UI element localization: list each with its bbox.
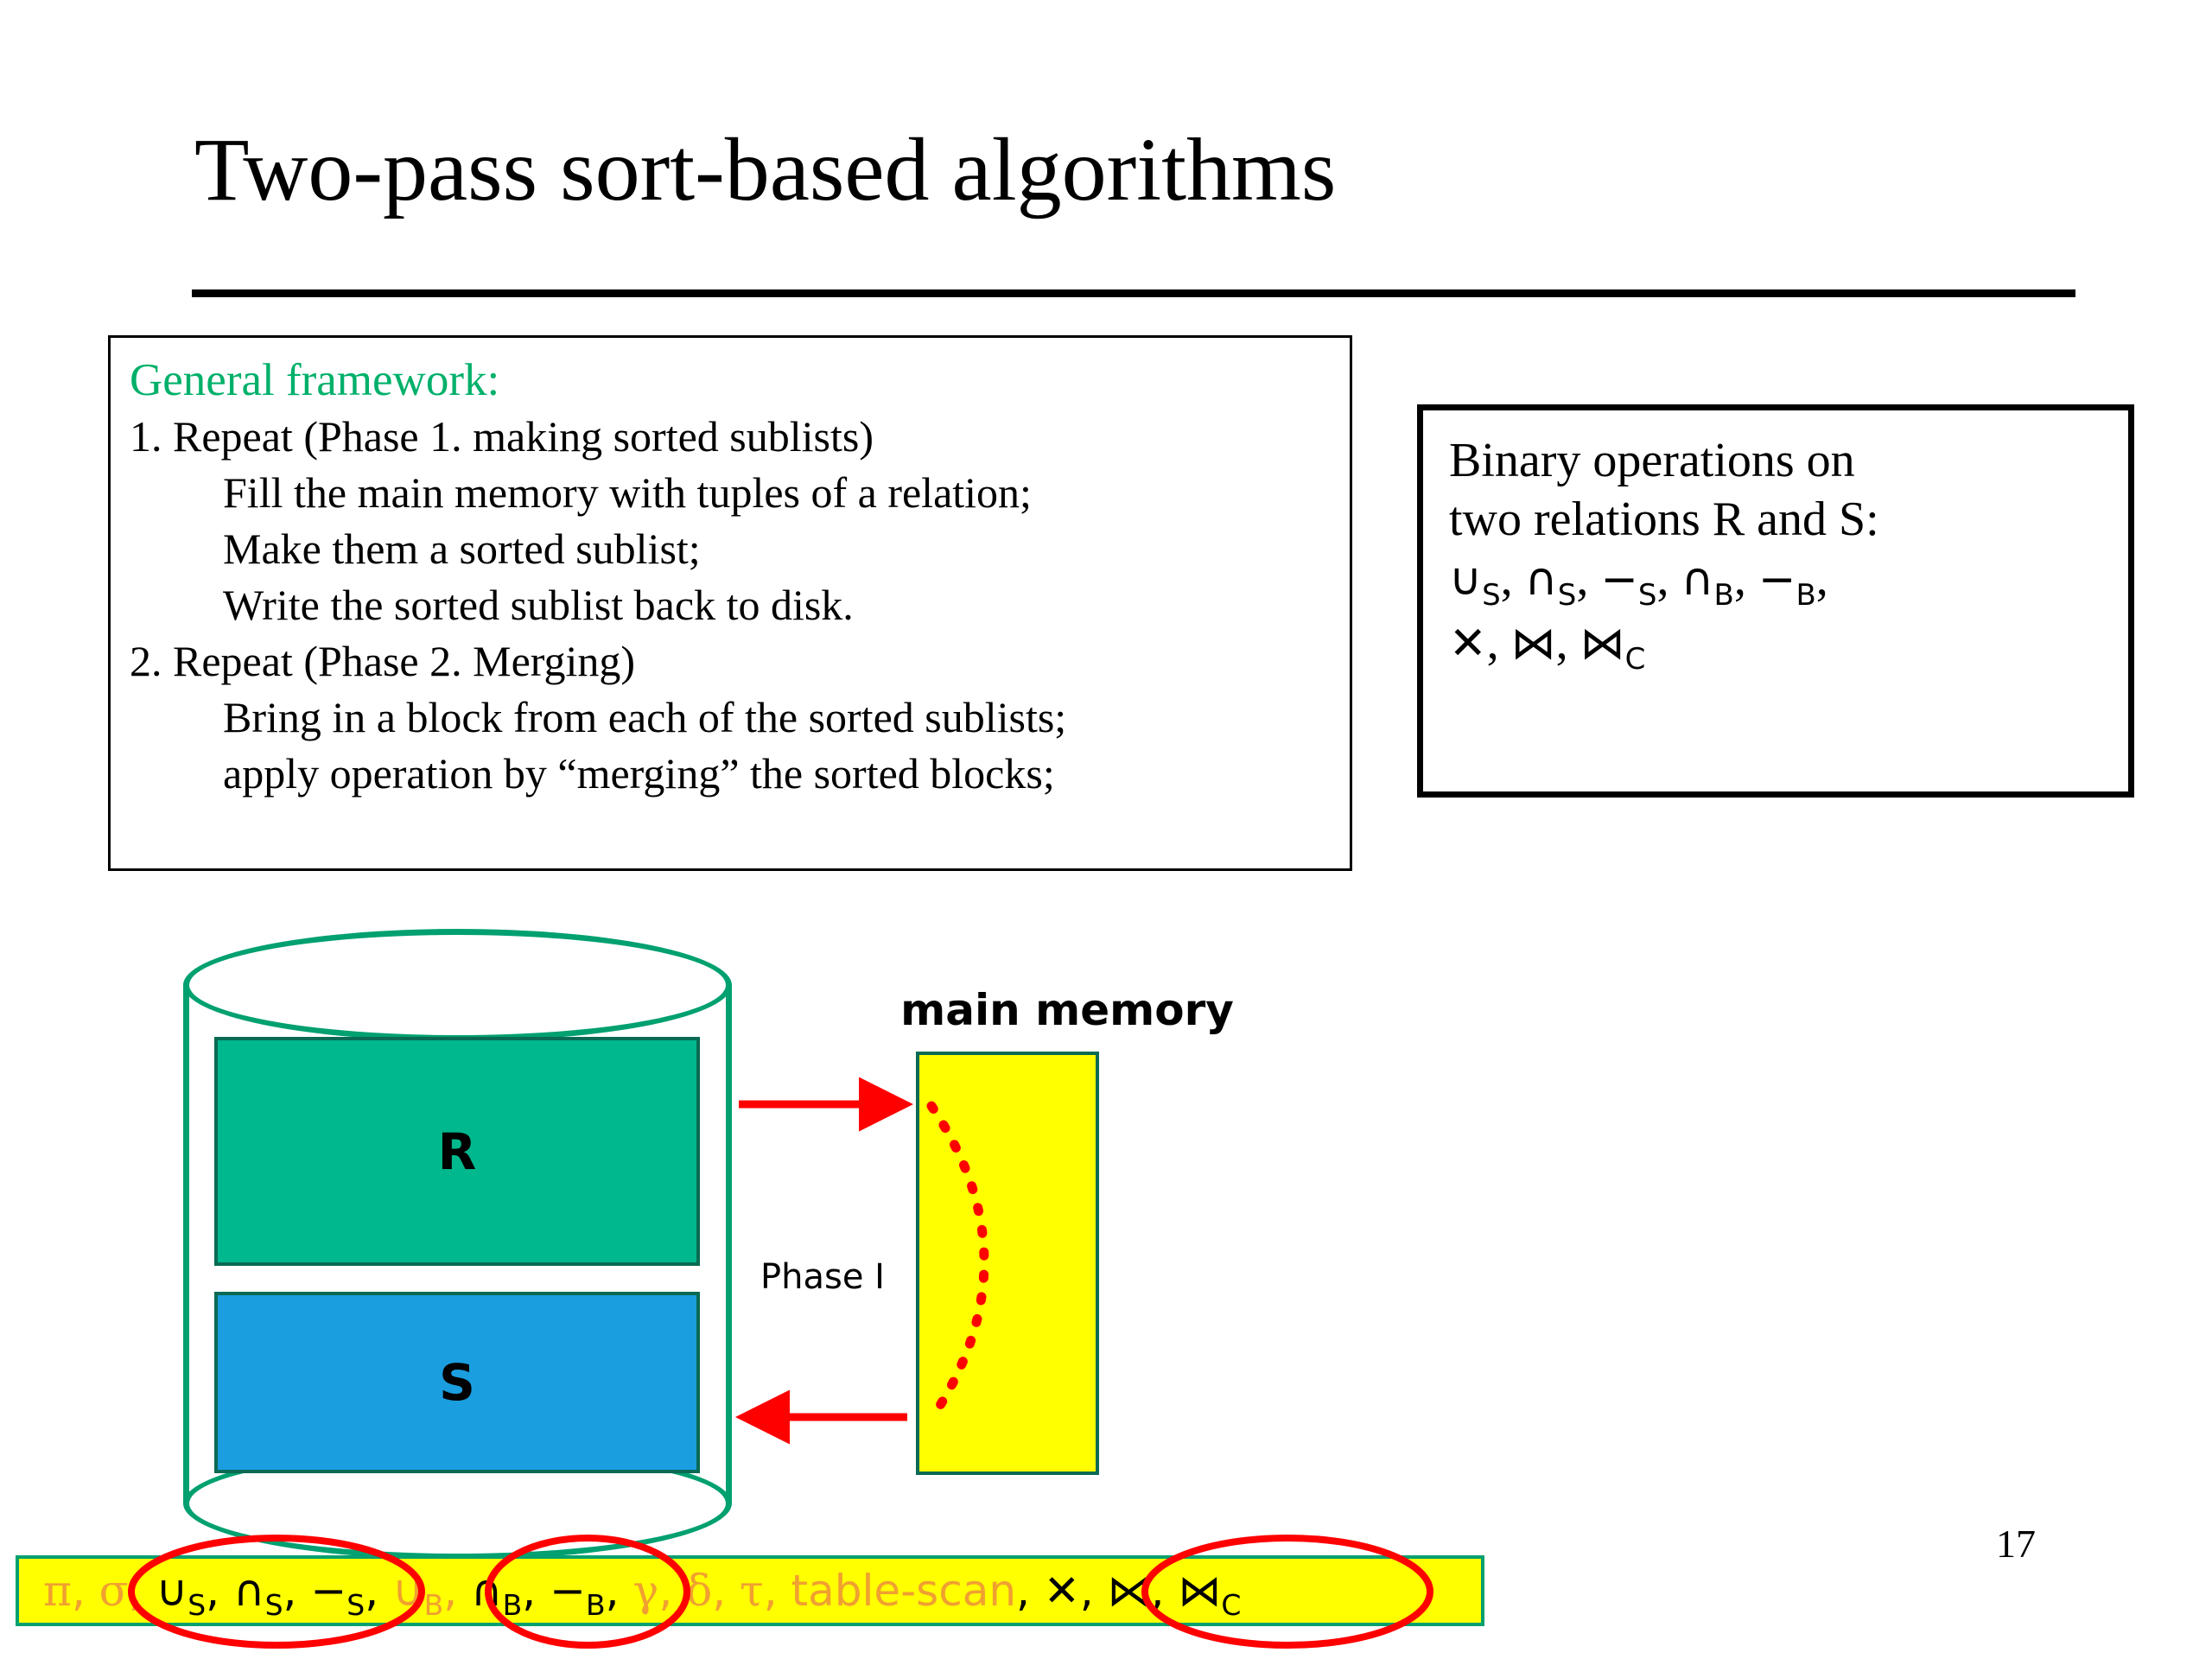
operator-token: τ [740, 1566, 764, 1616]
operator-token: , [1016, 1566, 1044, 1616]
framework-line-6: Bring in a block from each of the sorted… [130, 690, 1331, 746]
operator-subscript: S [265, 1588, 283, 1622]
binops-separator: , [1656, 552, 1681, 606]
operator-token: , [72, 1566, 99, 1616]
operator-summary-text: π, σ, ∪S, ∩S, −S, ∪B, ∩B, −B, γ, δ, τ, t… [43, 1562, 1495, 1634]
binops-symbol: ⋈ [1511, 618, 1556, 670]
operator-token: , [443, 1566, 471, 1616]
framework-line-5: 2. Repeat (Phase 2. Merging) [130, 633, 1331, 690]
operator-token: , [712, 1566, 740, 1616]
binops-line-2: two relations R and S: [1449, 490, 2102, 549]
binops-separator: , [1734, 552, 1758, 606]
binops-symbol: ∪ [1449, 554, 1482, 606]
binops-join-operators: ✕, ⋈, ⋈C [1449, 613, 2102, 678]
binops-subscript: S [1558, 578, 1577, 613]
operator-subscript: C [1221, 1588, 1241, 1622]
binops-subscript: S [1482, 578, 1501, 613]
operator-token: , [658, 1566, 686, 1616]
binops-subscript: C [1625, 642, 1646, 677]
framework-line-2: Fill the main memory with tuples of a re… [130, 465, 1331, 521]
operator-subscript: S [346, 1588, 365, 1622]
binops-symbol: ∩ [1681, 554, 1713, 606]
operator-token: ∪ [392, 1566, 424, 1616]
framework-heading: General framework: [130, 352, 1331, 409]
binops-symbol: − [1758, 554, 1796, 606]
binary-operations-box: Binary operations on two relations R and… [1417, 404, 2134, 798]
two-pass-diagram: R S main memory Phase I [0, 899, 2212, 1538]
page-number: 17 [1996, 1521, 2036, 1567]
binops-symbol: ∩ [1525, 554, 1558, 606]
operator-token: π [43, 1566, 72, 1616]
binops-set-operators: ∪S, ∩S, −S, ∩B, −B, [1449, 550, 2102, 614]
binops-separator: , [1501, 552, 1525, 606]
binops-subscript: B [1796, 578, 1815, 613]
title-underline [192, 289, 2075, 297]
operator-token: − [550, 1566, 586, 1616]
operator-token: , [1151, 1566, 1179, 1616]
operator-subscript: B [424, 1588, 444, 1622]
operator-subscript: B [586, 1588, 606, 1622]
operator-token: , [206, 1566, 233, 1616]
operator-token: , [129, 1566, 156, 1616]
binops-separator: , [1556, 616, 1580, 670]
operator-token: , [1080, 1566, 1108, 1616]
binops-separator: , [1487, 616, 1511, 670]
operator-subscript: S [188, 1588, 206, 1622]
operator-token: , table-scan [764, 1566, 1016, 1616]
binops-symbol: ✕ [1449, 618, 1487, 670]
binops-subscript: S [1638, 578, 1657, 613]
operator-token: , [522, 1566, 550, 1616]
binops-symbol: ⋈ [1580, 618, 1625, 670]
framework-line-1: 1. Repeat (Phase 1. making sorted sublis… [130, 409, 1331, 465]
framework-line-4: Write the sorted sublist back to disk. [130, 577, 1331, 633]
operator-subscript: B [503, 1588, 523, 1622]
operator-token: ∪ [156, 1566, 188, 1616]
operator-token: − [310, 1566, 346, 1616]
operator-token: , [606, 1566, 633, 1616]
framework-line-3: Make them a sorted sublist; [130, 521, 1331, 577]
operator-token: σ [99, 1566, 129, 1616]
binops-symbol: − [1600, 554, 1638, 606]
operator-token: ∩ [233, 1566, 265, 1616]
binops-subscript: B [1714, 578, 1734, 613]
operator-token: , [283, 1566, 311, 1616]
operator-token: ⋈ [1178, 1566, 1221, 1616]
diagram-arrows [0, 899, 2212, 1538]
binops-separator: , [1816, 552, 1828, 606]
framework-line-7: apply operation by “merging” the sorted … [130, 746, 1331, 802]
operator-token: δ [686, 1566, 712, 1616]
operator-token: γ [632, 1566, 658, 1616]
binops-line-1: Binary operations on [1449, 431, 2102, 490]
general-framework-box: General framework: 1. Repeat (Phase 1. m… [108, 335, 1352, 871]
operator-token: , [365, 1566, 392, 1616]
operator-token: ✕ [1044, 1566, 1080, 1616]
operator-token: ∩ [471, 1566, 503, 1616]
page-title: Two-pass sort-based algorithms [194, 121, 2026, 219]
operator-token: ⋈ [1108, 1566, 1151, 1616]
binops-separator: , [1576, 552, 1600, 606]
